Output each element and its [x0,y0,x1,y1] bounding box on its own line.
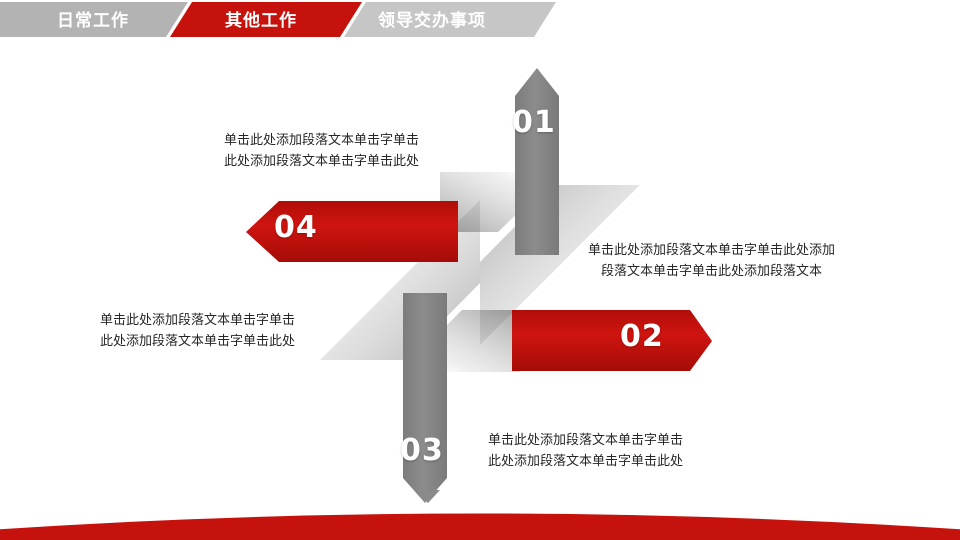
segment-text-03-line-2: 此处添加段落文本单击字单击此处 [488,451,683,472]
segment-text-01-line-2: 此处添加段落文本单击字单击此处 [224,151,419,172]
segment-text-01: 单击此处添加段落文本单击字单击 此处添加段落文本单击字单击此处 [224,130,419,172]
arrow-02-right[interactable] [512,310,712,371]
arrow-number-02: 02 [620,319,664,354]
slide-canvas: 日常工作 其他工作 领导交办事项 [0,0,960,540]
segment-text-03-line-1: 单击此处添加段落文本单击字单击 [488,430,683,451]
segment-text-03: 单击此处添加段落文本单击字单击 此处添加段落文本单击字单击此处 [488,430,683,472]
segment-text-04: 单击此处添加段落文本单击字单击 此处添加段落文本单击字单击此处 [100,310,295,352]
footer-red-arc [0,514,960,540]
segment-text-04-line-2: 此处添加段落文本单击字单击此处 [100,331,295,352]
arrow-03-down[interactable] [403,293,447,503]
segment-text-01-line-1: 单击此处添加段落文本单击字单击 [224,130,419,151]
arrow-number-04: 04 [274,210,318,245]
arrow-number-03: 03 [400,433,444,468]
arrow-01-up[interactable] [515,68,559,255]
segment-text-02-line-2: 段落文本单击字单击此处添加段落文本 [588,261,835,282]
segment-text-02-line-1: 单击此处添加段落文本单击字单击此处添加 [588,240,835,261]
arrow-number-01: 01 [512,105,556,140]
segment-text-04-line-1: 单击此处添加段落文本单击字单击 [100,310,295,331]
segment-text-02: 单击此处添加段落文本单击字单击此处添加 段落文本单击字单击此处添加段落文本 [588,240,835,282]
